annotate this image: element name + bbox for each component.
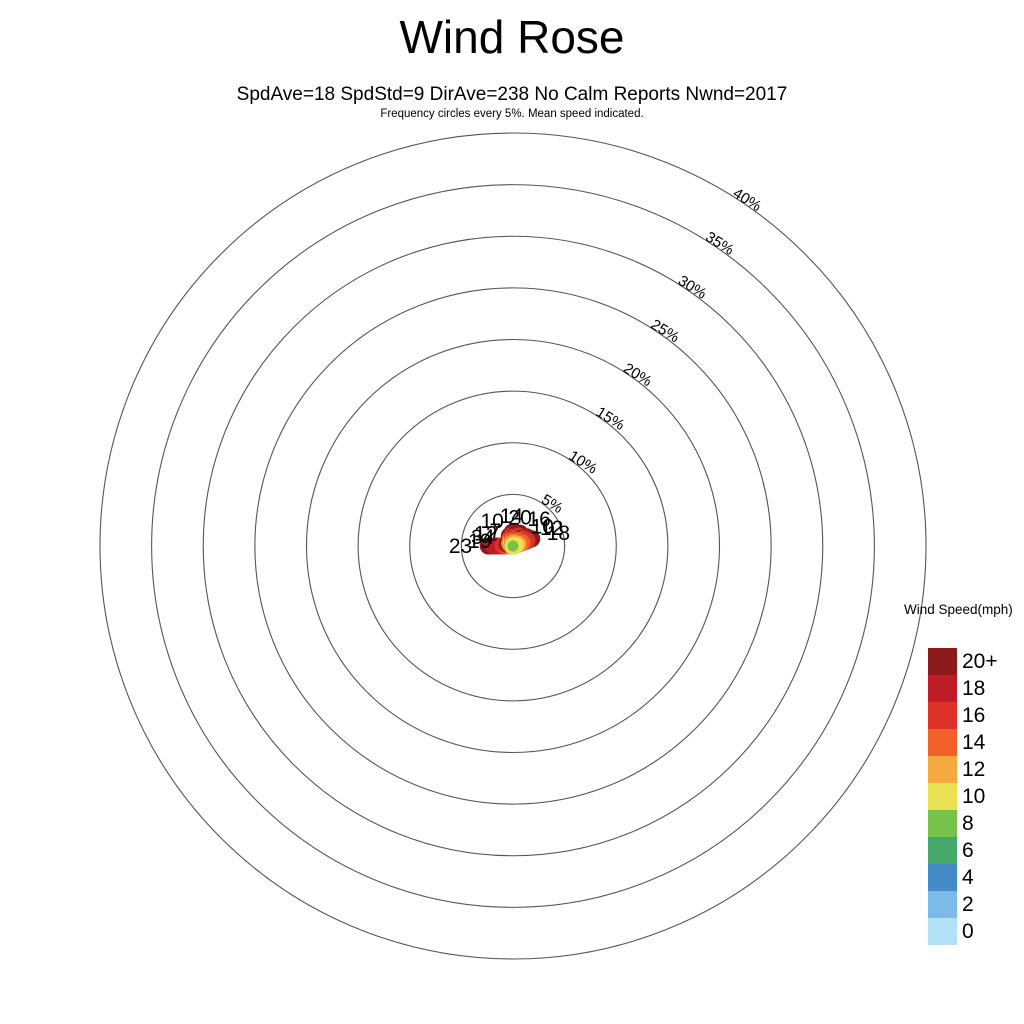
ring-label-30: 30% bbox=[675, 272, 709, 302]
legend-swatch bbox=[928, 918, 957, 945]
petal-mean-speed-label: 18 bbox=[547, 522, 570, 545]
center-hub bbox=[508, 541, 519, 552]
legend-swatch bbox=[928, 729, 957, 756]
ring-label-25: 25% bbox=[648, 316, 682, 346]
legend-label: 12 bbox=[962, 756, 985, 783]
legend-label: 14 bbox=[962, 729, 985, 756]
ring-label-15: 15% bbox=[593, 404, 627, 434]
wind-rose-page: Wind Rose SpdAve=18 SpdStd=9 DirAve=238 … bbox=[0, 0, 1024, 1024]
legend-label: 4 bbox=[962, 864, 974, 891]
legend-swatch bbox=[928, 675, 957, 702]
legend-swatch bbox=[928, 783, 957, 810]
legend-label: 8 bbox=[962, 810, 974, 837]
legend-swatch bbox=[928, 864, 957, 891]
wind-rose-plot: 5%10%15%20%25%30%35%40% 2319341271014201… bbox=[0, 0, 1024, 1024]
ring-label-40: 40% bbox=[730, 185, 764, 215]
legend-swatch bbox=[928, 702, 957, 729]
ring-labels: 5%10%15%20%25%30%35%40% bbox=[538, 185, 764, 517]
legend-label: 2 bbox=[962, 891, 974, 918]
legend-label: 6 bbox=[962, 837, 974, 864]
legend-label: 20+ bbox=[962, 648, 998, 675]
legend-title: Wind Speed(mph) bbox=[904, 602, 1013, 617]
ring-label-35: 35% bbox=[702, 228, 736, 258]
ring-label-10: 10% bbox=[566, 447, 600, 477]
legend-label: 10 bbox=[962, 783, 985, 810]
ring-label-20: 20% bbox=[620, 360, 654, 390]
legend-swatch bbox=[928, 891, 957, 918]
legend-label: 18 bbox=[962, 675, 985, 702]
legend-swatch bbox=[928, 648, 957, 675]
legend-swatch bbox=[928, 810, 957, 837]
legend-label: 0 bbox=[962, 918, 974, 945]
legend-swatch bbox=[928, 756, 957, 783]
legend-label: 16 bbox=[962, 702, 985, 729]
legend-swatch bbox=[928, 837, 957, 864]
